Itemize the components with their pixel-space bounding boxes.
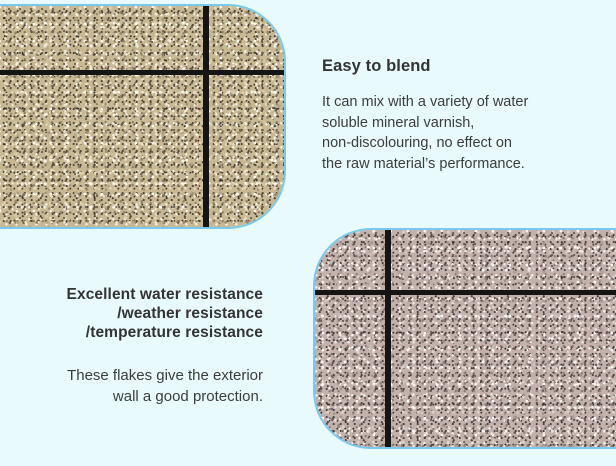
heading-line: Easy to blend <box>322 56 572 76</box>
grout-line-horizontal <box>313 290 616 295</box>
mauve-granite-wall-photo <box>313 228 616 449</box>
feature-heading: Excellent water resistance /weather resi… <box>10 286 263 343</box>
feature-body: These flakes give the exterior wall a go… <box>10 365 263 408</box>
feature-heading: Easy to blend <box>322 56 572 76</box>
heading-line: /weather resistance <box>10 305 263 324</box>
feature-resistance: Excellent water resistance /weather resi… <box>10 286 263 407</box>
feature-body: It can mix with a variety of water solub… <box>322 92 572 174</box>
heading-line: /temperature resistance <box>10 324 263 343</box>
body-line: non-discolouring, no effect on <box>322 133 572 154</box>
grout-line-vertical <box>385 228 391 449</box>
body-line: These flakes give the exterior <box>10 365 263 386</box>
beige-granite-wall-photo <box>0 4 286 229</box>
grout-line-horizontal <box>0 70 286 75</box>
feature-easy-to-blend: Easy to blend It can mix with a variety … <box>322 56 572 174</box>
product-feature-infographic: { "background_color": "#e9fafc", "border… <box>0 0 616 466</box>
body-line: wall a good protection. <box>10 386 263 407</box>
heading-line: Excellent water resistance <box>10 286 263 305</box>
beige-stone-texture <box>0 6 284 227</box>
grout-line-vertical <box>203 4 209 229</box>
body-line: It can mix with a variety of water <box>322 92 572 113</box>
mauve-stone-texture <box>315 230 616 447</box>
body-line: soluble mineral varnish, <box>322 113 572 134</box>
body-line: the raw material’s performance. <box>322 154 572 175</box>
